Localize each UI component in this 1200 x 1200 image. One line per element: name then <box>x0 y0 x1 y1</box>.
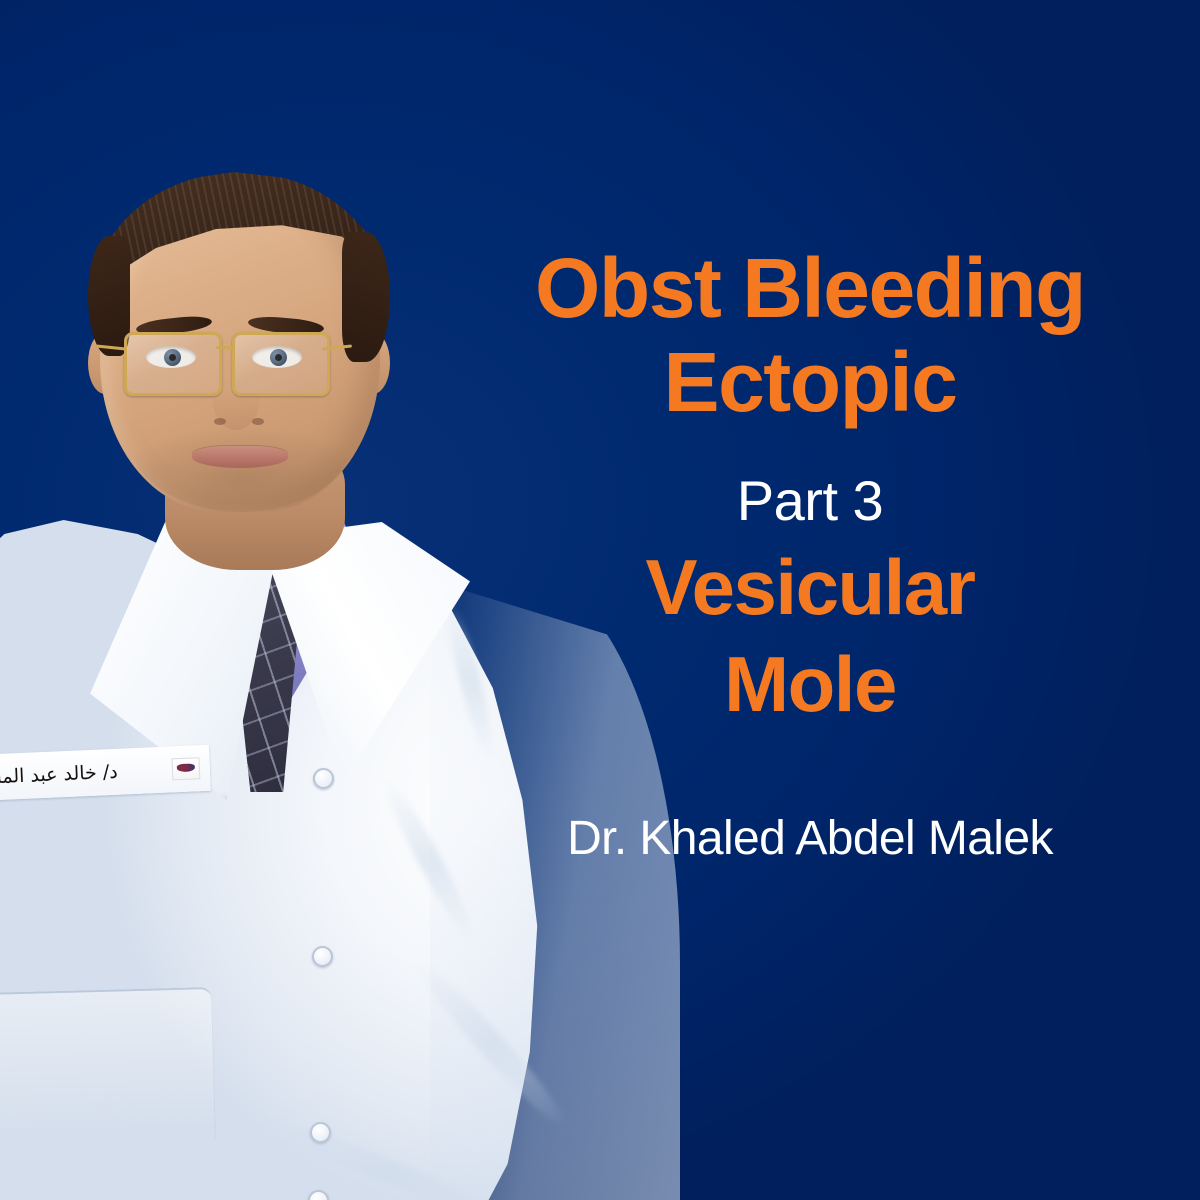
eyeglasses-lens-left <box>124 332 222 396</box>
lecture-title-slide: د/ خالد عبد الملك Obst Bleeding Ectopic … <box>0 0 1200 1200</box>
presenter-name: Dr. Khaled Abdel Malek <box>450 815 1170 863</box>
slide-title-line-1: Obst Bleeding <box>450 246 1170 330</box>
lab-coat-pocket <box>0 987 216 1145</box>
coat-button <box>313 768 334 789</box>
hair-side-right <box>342 232 390 362</box>
slide-part-label: Part 3 <box>450 473 1170 529</box>
slide-title-line-2: Ectopic <box>450 340 1170 424</box>
name-badge-text: د/ خالد عبد الملك <box>0 761 118 789</box>
hospital-logo-icon <box>171 757 200 780</box>
eyeglasses-bridge <box>216 346 234 349</box>
slide-text-block: Obst Bleeding Ectopic Part 3 Vesicular M… <box>450 0 1170 1200</box>
slide-subtitle-line-1: Vesicular <box>450 548 1170 626</box>
coat-button <box>310 1122 331 1143</box>
coat-button <box>312 946 333 967</box>
nostril-right <box>252 418 264 425</box>
nostril-left <box>214 418 226 425</box>
mouth <box>192 446 288 468</box>
slide-subtitle-line-2: Mole <box>450 645 1170 723</box>
